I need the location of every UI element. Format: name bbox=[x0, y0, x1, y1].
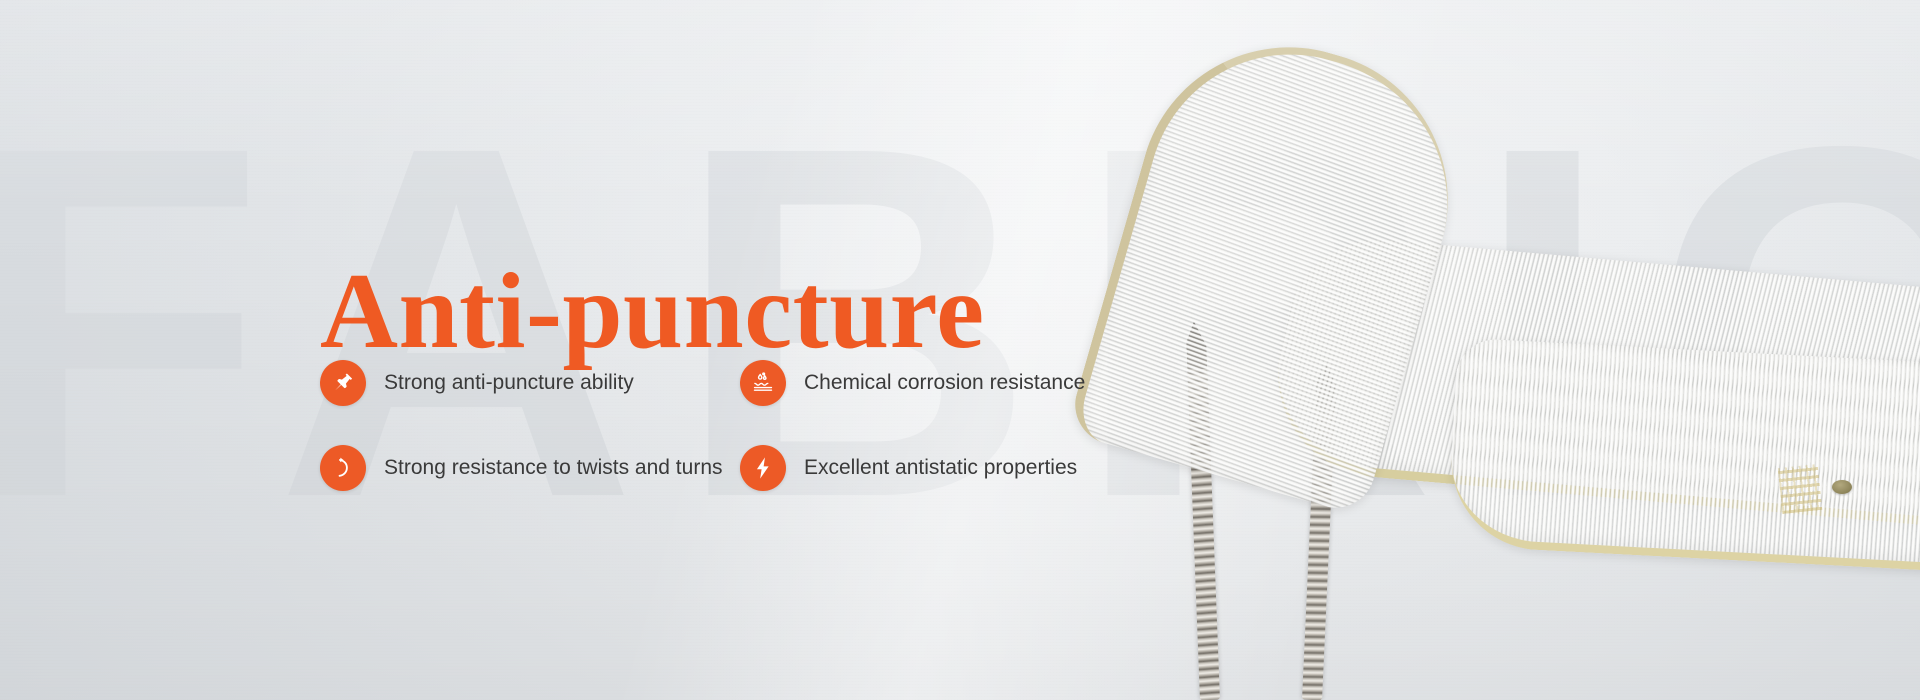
feature-item-antistatic: Excellent antistatic properties bbox=[740, 425, 1160, 510]
feature-list: Strong anti-puncture ability bbox=[320, 340, 1160, 510]
banner-content: Anti-puncture Strong anti-puncture abili… bbox=[0, 0, 1100, 700]
steel-nail-right bbox=[1302, 405, 1335, 700]
feature-label: Chemical corrosion resistance bbox=[804, 371, 1085, 395]
anti-puncture-hero-banner: FABRIC Anti-puncture bbox=[0, 0, 1920, 700]
nail-tip-right bbox=[1315, 361, 1337, 410]
droplet-surface-icon bbox=[740, 360, 786, 406]
pushpin-icon bbox=[320, 360, 366, 406]
nail-tip-left bbox=[1185, 321, 1207, 370]
product-photo bbox=[1040, 0, 1920, 700]
puncture-hole bbox=[1832, 480, 1852, 494]
plate-tail-end-section bbox=[1447, 337, 1920, 574]
rotate-arrow-icon bbox=[320, 445, 366, 491]
steel-nail-left bbox=[1187, 365, 1220, 700]
feature-item-twist-resistance: Strong resistance to twists and turns bbox=[320, 425, 740, 510]
feature-item-anti-puncture: Strong anti-puncture ability bbox=[320, 340, 740, 425]
feature-label: Excellent antistatic properties bbox=[804, 456, 1077, 480]
fabric-stitch-mark bbox=[1778, 464, 1823, 514]
feature-label: Strong resistance to twists and turns bbox=[384, 456, 723, 480]
lightning-bolt-icon bbox=[740, 445, 786, 491]
feature-item-chemical-corrosion: Chemical corrosion resistance bbox=[740, 340, 1160, 425]
plate-tail-section bbox=[1256, 233, 1920, 530]
anti-puncture-plate bbox=[1032, 52, 1920, 552]
feature-label: Strong anti-puncture ability bbox=[384, 371, 634, 395]
